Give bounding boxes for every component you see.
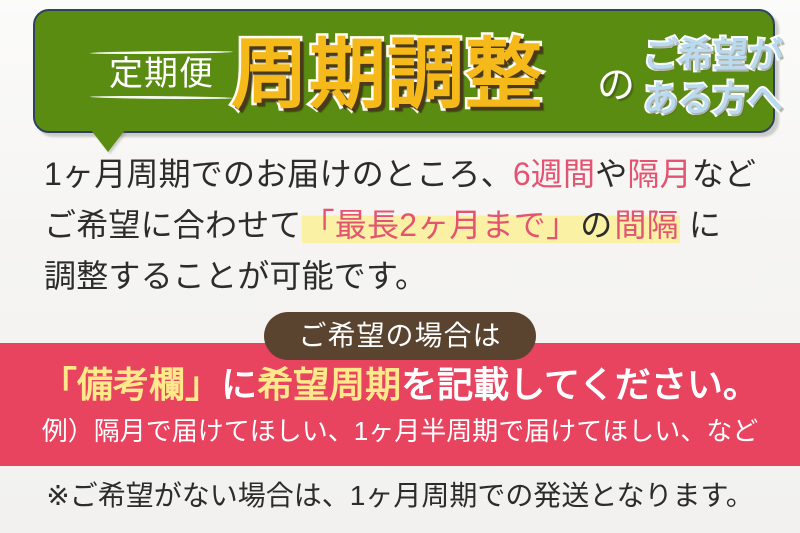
text-segment: に <box>221 364 257 405</box>
body-line: 調整することが可能です。 <box>44 251 774 302</box>
body-paragraph: 1ヶ月周期でのお届けのところ、6週間や隔月などご希望に合わせて「最長2ヶ月まで」… <box>44 149 774 302</box>
text-segment: 希望周期 <box>257 364 401 405</box>
instruction-headline: 「備考欄」に希望周期を記載してください。 <box>0 367 800 403</box>
header-subtext-line-1: ご希望が <box>643 34 800 78</box>
text-segment: 隔月 <box>627 156 691 192</box>
text-segment: 「備考欄」 <box>41 364 221 405</box>
text-segment: の <box>579 207 613 243</box>
text-segment: 6週間 <box>513 156 595 192</box>
header-green-bar: 定期便 周期調整 の ご希望が ある方へ <box>33 9 775 133</box>
section-pill-label: ご希望の場合は <box>298 322 501 350</box>
instruction-band: 「備考欄」に希望周期を記載してください。 例）隔月で届けてほしい、1ヶ月半周期で… <box>0 343 800 466</box>
body-line: ご希望に合わせて「最長2ヶ月まで」の間隔 に <box>44 200 774 251</box>
footnote-text: ※ご希望がない場合は、1ヶ月周期での発送となります。 <box>0 482 800 510</box>
text-segment: など <box>692 156 756 192</box>
decorative-rule-top <box>90 50 233 54</box>
text-segment: 「最長2ヶ月まで」 <box>302 207 580 243</box>
subscription-badge-label: 定期便 <box>109 57 214 93</box>
header-subtext-line-2: ある方へ <box>643 78 800 122</box>
text-segment: 調整することが可能です。 <box>44 258 427 294</box>
header-subtext: ご希望が ある方へ <box>643 34 800 122</box>
decorative-rule-bottom <box>90 96 233 100</box>
header-title-particle: の <box>597 67 635 105</box>
header-banner: 定期便 周期調整 の ご希望が ある方へ <box>33 9 775 133</box>
text-segment: ご希望に合わせて <box>44 207 302 243</box>
instruction-example: 例）隔月で届けてほしい、1ヶ月半周期で届けてほしい、など <box>0 418 800 444</box>
text-segment: や <box>595 156 627 192</box>
body-line: 1ヶ月周期でのお届けのところ、6週間や隔月など <box>44 149 774 200</box>
section-pill-badge: ご希望の場合は <box>264 312 536 360</box>
header-title: 周期調整 <box>231 29 543 121</box>
text-segment: に <box>680 207 721 243</box>
subscription-badge: 定期便 <box>90 40 233 110</box>
text-segment: 間隔 <box>613 207 679 243</box>
text-segment: 1ヶ月周期でのお届けのところ、 <box>44 156 513 192</box>
text-segment: を記載してください。 <box>401 364 759 405</box>
promo-banner: 定期便 周期調整 の ご希望が ある方へ 1ヶ月周期でのお届けのところ、6週間や… <box>0 0 800 533</box>
